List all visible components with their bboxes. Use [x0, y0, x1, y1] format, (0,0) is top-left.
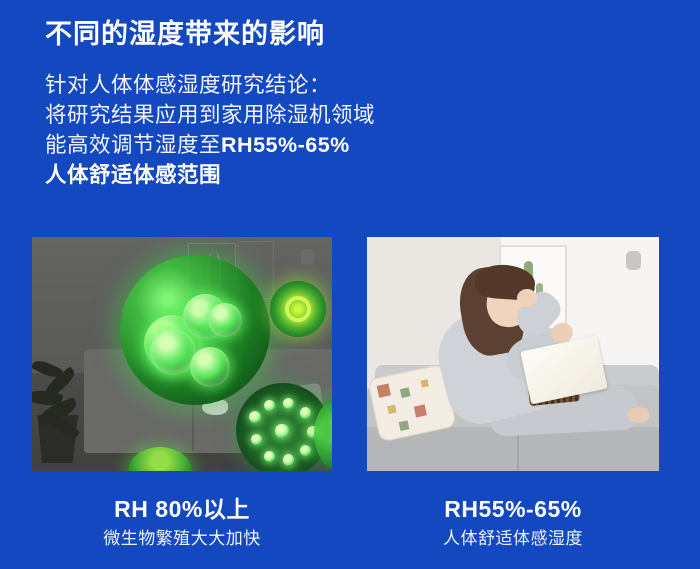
- page-title: 不同的湿度带来的影响: [45, 17, 665, 51]
- intro-line-3-prefix: 能高效调节湿度至: [45, 133, 221, 157]
- intro-line-3: 能高效调节湿度至RH55%-65%: [45, 130, 665, 160]
- woman-reading-figure: [413, 259, 643, 459]
- caption-title: RH 80%以上: [32, 494, 332, 524]
- humidity-infographic-poster: 不同的湿度带来的影响 针对人体体感湿度研究结论： 将研究结果应用到家用除湿机领域…: [0, 0, 700, 569]
- caption-row: RH 80%以上 微生物繁殖大大加快 RH55%-65% 人体舒适体感湿度: [0, 494, 700, 560]
- intro-paragraph: 针对人体体感湿度研究结论： 将研究结果应用到家用除湿机领域 能高效调节湿度至RH…: [45, 70, 665, 190]
- pillow-motif: [400, 387, 411, 398]
- virus-core: [275, 424, 288, 437]
- intro-line-3-range: RH55%-65%: [221, 133, 350, 157]
- virus-spike: [264, 400, 275, 411]
- dark-room-scene: [32, 237, 332, 471]
- microbe-icon-large: [120, 255, 270, 405]
- caption-subtitle: 微生物繁殖大大加快: [32, 527, 332, 551]
- pillow-motif: [399, 420, 410, 431]
- photo-high-humidity: [32, 237, 332, 471]
- photo-row: [0, 237, 700, 471]
- caption-title: RH55%-65%: [367, 494, 659, 524]
- photo-comfort-humidity: [367, 237, 659, 471]
- intro-line-1: 针对人体体感湿度研究结论：: [45, 70, 665, 100]
- bright-room-scene: [367, 237, 659, 471]
- virus-spike: [283, 454, 294, 465]
- hand-at-forehead: [517, 289, 537, 307]
- pillow-motif: [377, 383, 391, 397]
- caption-comfort-humidity: RH55%-65% 人体舒适体感湿度: [367, 494, 659, 551]
- foot: [627, 407, 649, 423]
- pillow-motif: [387, 405, 396, 414]
- virus-spike: [300, 407, 311, 418]
- virus-spike: [249, 411, 261, 423]
- intro-line-2: 将研究结果应用到家用除湿机领域: [45, 100, 665, 130]
- intro-line-4: 人体舒适体感范围: [45, 160, 665, 190]
- microbe-icon-medium: [270, 281, 326, 337]
- microbe-icon-blob: [208, 303, 242, 337]
- wall-switch-icon: [301, 249, 314, 265]
- caption-subtitle: 人体舒适体感湿度: [367, 527, 659, 551]
- virus-spike: [251, 434, 262, 445]
- virus-spike: [283, 398, 294, 409]
- virus-spike: [300, 445, 311, 456]
- microbe-icon-blob: [190, 347, 230, 387]
- caption-high-humidity: RH 80%以上 微生物繁殖大大加快: [32, 494, 332, 551]
- virus-spike: [264, 451, 275, 462]
- heading-block: 不同的湿度带来的影响 针对人体体感湿度研究结论： 将研究结果应用到家用除湿机领域…: [45, 17, 665, 190]
